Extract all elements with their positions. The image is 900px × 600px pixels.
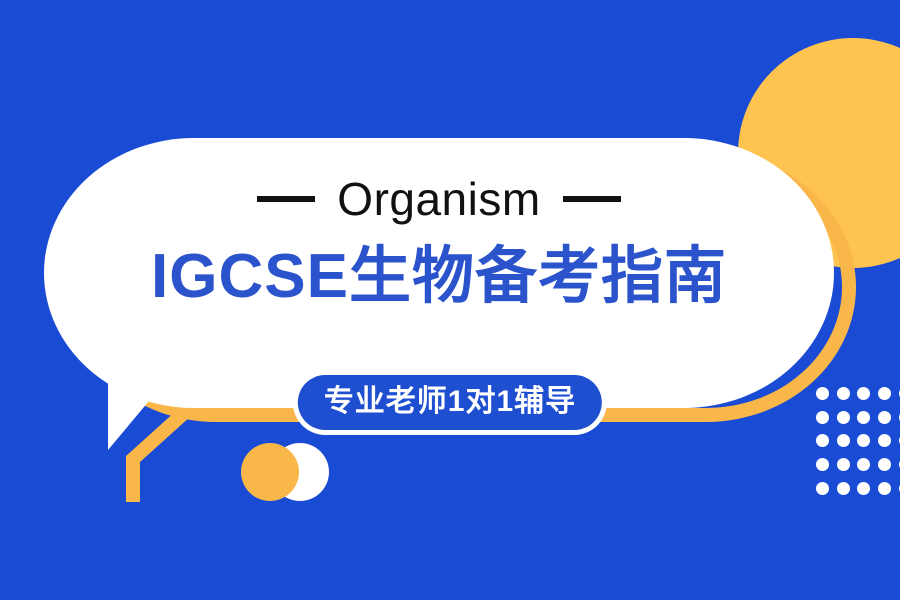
dot	[816, 482, 829, 495]
dot	[837, 387, 850, 400]
dot	[816, 411, 829, 424]
dot	[837, 411, 850, 424]
dot	[857, 411, 870, 424]
eyebrow-rule-left	[257, 196, 315, 202]
dot	[878, 482, 891, 495]
dot	[878, 411, 891, 424]
poster-canvas: Organism IGCSE生物备考指南 专业老师1对1辅导	[0, 0, 900, 600]
dot	[857, 434, 870, 447]
dot	[857, 458, 870, 471]
badge-ring: 专业老师1对1辅导	[293, 370, 607, 435]
dot	[837, 482, 850, 495]
page-title: IGCSE生物备考指南	[151, 244, 727, 309]
eyebrow-rule-right	[563, 196, 621, 202]
dot	[837, 434, 850, 447]
dot	[857, 482, 870, 495]
dot	[857, 387, 870, 400]
dot	[816, 458, 829, 471]
dot	[878, 387, 891, 400]
dot	[837, 458, 850, 471]
dot	[878, 458, 891, 471]
eyebrow-row: Organism	[257, 176, 620, 222]
decorative-circle-orange	[241, 443, 299, 501]
dot	[878, 434, 891, 447]
status-badge: 专业老师1对1辅导	[298, 375, 602, 430]
eyebrow-text: Organism	[337, 176, 540, 222]
bubble-content: Organism IGCSE生物备考指南	[44, 138, 834, 408]
dot	[816, 434, 829, 447]
